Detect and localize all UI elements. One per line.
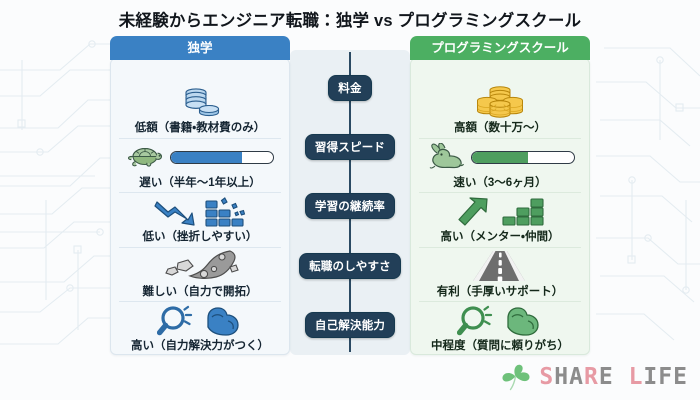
speed-progress-bar [471, 151, 575, 164]
column-self-study: 低額（書籍・教材費のみ） [110, 58, 290, 355]
row-speed-school: 速い（3〜6ヶ月） [411, 138, 589, 193]
row-icons [415, 301, 585, 340]
coins-gold-icon [472, 86, 528, 118]
row-value-label: 有利（手厚いサポート） [437, 286, 564, 299]
row-icons [115, 247, 285, 286]
magnifier-blue-icon [157, 305, 197, 337]
row-icons [115, 138, 285, 177]
turtle-icon [127, 144, 165, 170]
speed-bar-group [415, 143, 585, 171]
row-icons [115, 301, 285, 340]
row-speed-self-study: 遅い（半年〜1年以上） [111, 138, 289, 193]
row-icons [415, 192, 585, 231]
speed-progress-fill [171, 152, 242, 163]
pill-row: 自己解決能力 [290, 296, 410, 355]
speed-progress-fill [472, 152, 528, 163]
row-selfsolve-school: 中程度（質問に頼りがち） [411, 301, 589, 356]
logo-letter: L [629, 364, 644, 390]
page-title: 未経験からエンジニア転職：独学 vs プログラミングスクール [0, 7, 700, 31]
crumbling-blocks-blue-icon [204, 196, 248, 228]
straight-road-icon [467, 249, 533, 283]
pill-row: 学習の継続率 [290, 177, 410, 236]
row-selfsolve-self-study: 高い（自力解決力がつく） [111, 301, 289, 356]
row-value-label: 中程度（質問に頼りがち） [431, 340, 569, 353]
row-retention-school: 高い（メンター・仲間） [411, 192, 589, 247]
infographic-canvas: 未経験からエンジニア転職：独学 vs プログラミングスクール 独学 プログラミン… [0, 0, 700, 400]
center-criteria-labels: 料金 習得スピード 学習の継続率 転職のしやすさ 自己解決能力 [290, 58, 410, 355]
logo-letter: E [599, 364, 614, 390]
rabbit-icon [426, 143, 466, 171]
row-icons [415, 83, 585, 122]
arrow-down-blue-icon [152, 196, 198, 228]
magnifier-green-icon [457, 305, 497, 337]
row-value-label: 遅い（半年〜1年以上） [139, 177, 260, 190]
row-value-label: 難しい（自力で開拓） [143, 286, 258, 299]
criteria-label-price: 料金 [328, 75, 371, 101]
row-icons [415, 247, 585, 286]
pill-row: 習得スピード [290, 117, 410, 176]
row-icons [115, 83, 285, 122]
badge-self-study: 独学 [110, 36, 290, 60]
logo-letter: R [584, 364, 599, 390]
self-study-rows: 低額（書籍・教材費のみ） [111, 83, 289, 356]
speed-progress-bar [170, 151, 274, 164]
criteria-label-speed: 習得スピード [305, 134, 395, 160]
row-career-school: 有利（手厚いサポート） [411, 247, 589, 302]
row-value-label: 低い（挫折しやすい） [143, 231, 258, 244]
logo-letter: S [539, 364, 554, 390]
row-value-label: 高額（数十万〜） [454, 122, 546, 135]
row-price-school: 高額（数十万〜） [411, 83, 589, 138]
pill-row: 料金 [290, 58, 410, 117]
criteria-label-career: 転職のしやすさ [299, 253, 401, 279]
criteria-label-retention: 学習の継続率 [305, 193, 395, 219]
row-retention-self-study: 低い（挫折しやすい） [111, 192, 289, 247]
row-value-label: 高い（自力解決力がつく） [131, 340, 269, 353]
flexed-biceps-green-icon [503, 305, 543, 337]
logo-letter: F [658, 364, 673, 390]
badge-programming-school: プログラミングスクール [410, 36, 590, 60]
row-icons [415, 138, 585, 177]
rocky-path-icon [160, 249, 240, 283]
row-value-label: 速い（3〜6ヶ月） [453, 177, 546, 190]
clover-icon [499, 362, 533, 392]
speed-bar-group [115, 144, 285, 170]
arrow-up-green-icon [455, 196, 495, 228]
logo-wordmark: SHARE LIFE [539, 366, 688, 389]
coins-blue-icon [177, 87, 223, 117]
row-value-label: 高い（メンター・仲間） [441, 231, 560, 244]
criteria-label-selfsolve: 自己解決能力 [305, 312, 395, 338]
stacked-blocks-green-icon [501, 196, 545, 228]
flexed-biceps-blue-icon [203, 305, 243, 337]
programming-school-rows: 高額（数十万〜） [411, 83, 589, 356]
column-programming-school: 高額（数十万〜） [410, 58, 590, 355]
logo-letter: H [554, 364, 569, 390]
share-life-logo: SHARE LIFE [499, 362, 688, 392]
logo-letter: A [569, 364, 584, 390]
row-icons [115, 192, 285, 231]
logo-letter: E [673, 364, 688, 390]
row-price-self-study: 低額（書籍・教材費のみ） [111, 83, 289, 138]
logo-letter: I [643, 364, 658, 390]
row-value-label: 低額（書籍・教材費のみ） [135, 122, 265, 135]
row-career-self-study: 難しい（自力で開拓） [111, 247, 289, 302]
pill-row: 転職のしやすさ [290, 236, 410, 295]
